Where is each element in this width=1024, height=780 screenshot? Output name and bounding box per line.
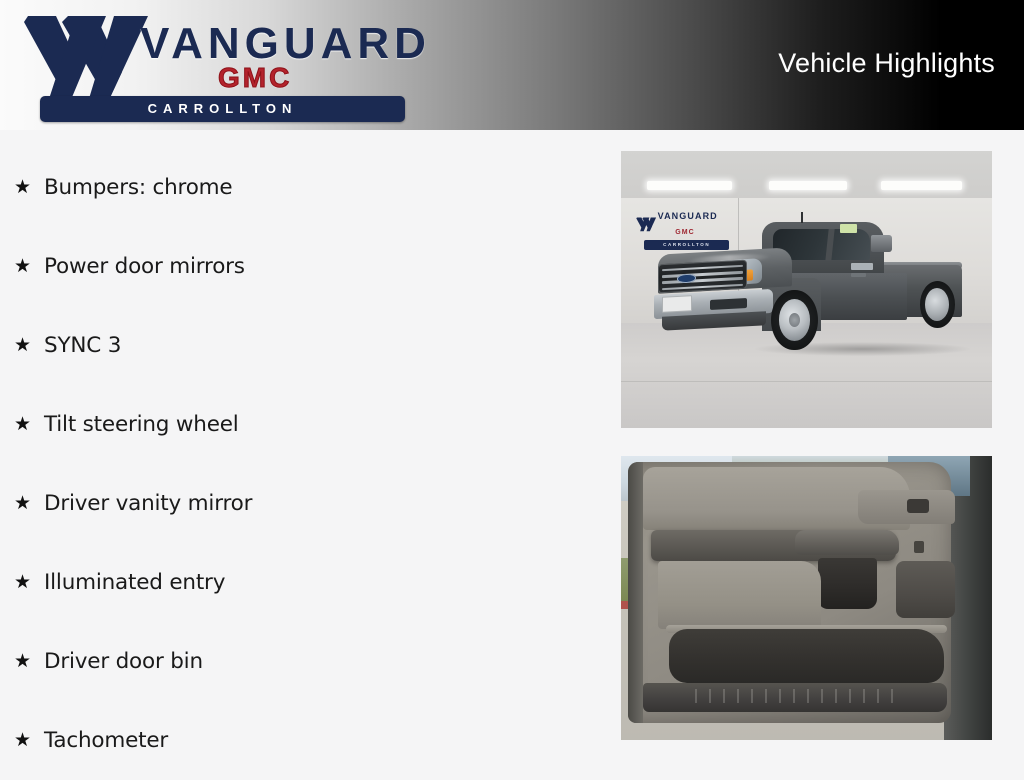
door-handle <box>851 273 866 277</box>
list-item: ★ Bumpers: chrome <box>14 148 594 227</box>
feature-label: Tachometer <box>44 728 168 753</box>
star-bullet-icon: ★ <box>14 257 44 276</box>
feature-label: Driver vanity mirror <box>44 491 252 516</box>
front-grille <box>658 259 747 293</box>
wall-dealer-logo: VANGUARD GMC CARROLLTON <box>636 209 740 253</box>
roof-antenna-icon <box>801 212 803 223</box>
ceiling-light-icon <box>769 181 847 190</box>
feature-label: Bumpers: chrome <box>44 175 232 200</box>
list-item: ★ Driver door bin <box>14 622 594 701</box>
door-lock-switch[interactable] <box>914 541 924 552</box>
list-item: ★ Tachometer <box>14 701 594 780</box>
feature-label: SYNC 3 <box>44 333 121 358</box>
wall-brand-make-label: GMC <box>675 229 694 236</box>
star-bullet-icon: ★ <box>14 573 44 592</box>
door-pull-handle[interactable] <box>795 530 899 556</box>
star-bullet-icon: ★ <box>14 731 44 750</box>
f150-badge <box>851 263 873 270</box>
wall-brand-wordmark: VANGUARD <box>658 212 718 221</box>
door-speaker-grille <box>896 561 955 618</box>
brand-city-label: CARROLLTON <box>40 96 405 122</box>
vanguard-w-mark-icon <box>22 10 152 102</box>
door-outer-edge <box>628 462 643 723</box>
dealer-logo: VANGUARD GMC CARROLLTON <box>22 6 412 124</box>
list-item: ★ Illuminated entry <box>14 543 594 622</box>
side-mirror <box>871 235 891 252</box>
mid-door-panel <box>658 561 821 629</box>
brand-wordmark: VANGUARD <box>140 22 431 66</box>
list-item: ★ Tilt steering wheel <box>14 385 594 464</box>
feature-label: Power door mirrors <box>44 254 245 279</box>
sill-ribs <box>695 689 899 703</box>
brand-city-bar: CARROLLTON <box>40 96 405 122</box>
wall-brand-city-label: CARROLLTON <box>644 240 729 250</box>
feature-label: Tilt steering wheel <box>44 412 239 437</box>
floor-line <box>621 381 992 382</box>
feature-label: Driver door bin <box>44 649 203 674</box>
handle-recess <box>818 558 877 609</box>
ceiling-light-icon <box>647 181 732 190</box>
list-item: ★ Power door mirrors <box>14 227 594 306</box>
slide-page: VANGUARD GMC CARROLLTON Vehicle Highligh… <box>0 0 1024 768</box>
brand-make-label: GMC <box>218 64 292 92</box>
feature-label: Illuminated entry <box>44 570 225 595</box>
list-item: ★ SYNC 3 <box>14 306 594 385</box>
bumper-vent <box>710 298 747 310</box>
vehicle-features-list: ★ Bumpers: chrome ★ Power door mirrors ★… <box>14 148 594 780</box>
driver-door-bin <box>669 629 944 683</box>
windshield-sticker <box>840 224 857 232</box>
star-bullet-icon: ★ <box>14 652 44 671</box>
star-bullet-icon: ★ <box>14 494 44 513</box>
page-title: Vehicle Highlights <box>778 48 995 79</box>
license-plate <box>662 296 692 313</box>
vehicle-exterior-photo: VANGUARD GMC CARROLLTON <box>621 151 992 428</box>
showroom-ceiling <box>621 151 992 198</box>
ceiling-light-icon <box>881 181 963 190</box>
page-header: VANGUARD GMC CARROLLTON Vehicle Highligh… <box>0 0 1024 130</box>
star-bullet-icon: ★ <box>14 336 44 355</box>
wall-brand-city-bar: CARROLLTON <box>644 240 729 250</box>
driver-door-panel-photo <box>621 456 992 740</box>
list-item: ★ Driver vanity mirror <box>14 464 594 543</box>
star-bullet-icon: ★ <box>14 178 44 197</box>
power-mirror-switch[interactable] <box>907 499 929 513</box>
star-bullet-icon: ★ <box>14 415 44 434</box>
vanguard-w-mark-icon <box>636 211 657 237</box>
